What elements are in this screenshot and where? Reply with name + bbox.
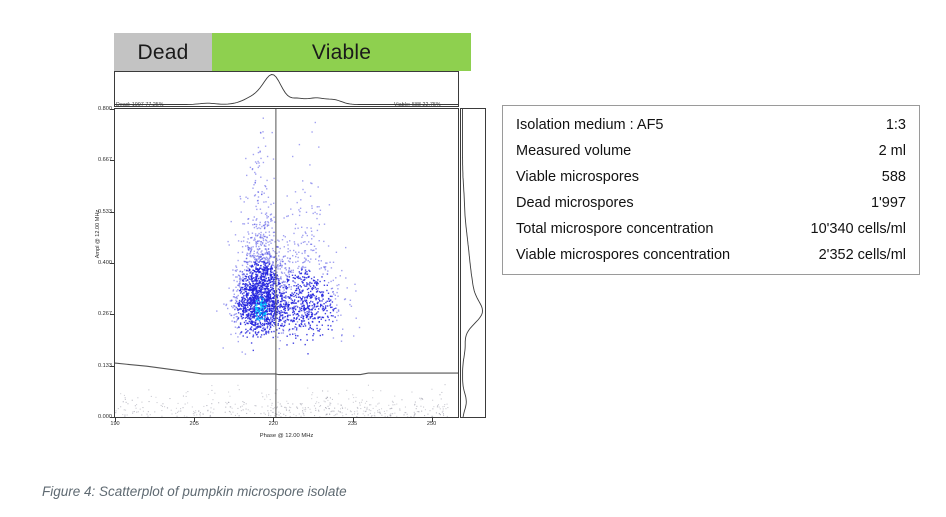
- y-tick-mark: [110, 212, 114, 213]
- result-label: Measured volume: [516, 143, 631, 159]
- y-tick-mark: [110, 263, 114, 264]
- result-label: Viable microspores: [516, 169, 639, 185]
- y-tick-mark: [110, 366, 114, 367]
- noise-point-band: [115, 384, 448, 417]
- result-label: Dead microspores: [516, 195, 634, 211]
- result-value: 10'340 cells/ml: [811, 221, 906, 237]
- scatter-plot-svg: [115, 109, 458, 417]
- classification-bar-group: Dead Viable: [114, 33, 471, 71]
- result-value: 2'352 cells/ml: [819, 247, 906, 263]
- table-row: Dead microspores 1'997: [503, 190, 919, 216]
- y-tick-mark: [110, 417, 114, 418]
- y-tick-mark: [110, 160, 114, 161]
- y-tick-label: 0.267: [88, 311, 112, 317]
- right-histogram-trace: [461, 109, 485, 417]
- scatter-plot-area[interactable]: [114, 108, 459, 418]
- table-row: Total microspore concentration 10'340 ce…: [503, 216, 919, 242]
- threshold-gate-line[interactable]: [115, 363, 458, 375]
- measurement-results-table: Isolation medium : AF5 1:3 Measured volu…: [502, 105, 920, 275]
- classification-bar-dead[interactable]: Dead: [114, 33, 212, 71]
- cytometry-scatterplot-figure: Dead: 1997 77.25% Viable: 588 22.75% 0.0…: [88, 71, 488, 466]
- table-row: Viable microspores concentration 2'352 c…: [503, 242, 919, 268]
- result-value: 588: [882, 169, 906, 185]
- classification-bar-dead-label: Dead: [137, 42, 188, 63]
- result-label: Total microspore concentration: [516, 221, 713, 237]
- result-value: 1'997: [871, 195, 906, 211]
- y-tick-label: 0.800: [88, 106, 112, 112]
- figure-caption: Figure 4: Scatterplot of pumpkin microsp…: [42, 484, 347, 499]
- y-axis-title: Ampl @ 12.00 MHz: [95, 194, 101, 274]
- table-row: Isolation medium : AF5 1:3: [503, 112, 919, 138]
- y-tick-label: 0.133: [88, 363, 112, 369]
- classification-bar-viable-label: Viable: [312, 42, 371, 63]
- y-tick-mark: [110, 109, 114, 110]
- table-row: Measured volume 2 ml: [503, 138, 919, 164]
- top-histogram-trace: [115, 72, 458, 106]
- gate-readout-viable: Viable: 588 22.75%: [394, 102, 441, 108]
- scatter-point-cloud: [216, 118, 360, 355]
- y-tick-mark: [110, 314, 114, 315]
- x-tick-mark: [273, 418, 274, 422]
- result-value: 1:3: [886, 117, 906, 133]
- result-label: Viable microspores concentration: [516, 247, 730, 263]
- table-row: Viable microspores 588: [503, 164, 919, 190]
- result-label: Isolation medium : AF5: [516, 117, 664, 133]
- x-tick-mark: [353, 418, 354, 422]
- x-tick-mark: [194, 418, 195, 422]
- right-marginal-histogram: [460, 108, 486, 418]
- x-axis-title: Phase @ 12.00 MHz: [114, 433, 459, 439]
- result-value: 2 ml: [879, 143, 906, 159]
- x-tick-mark: [115, 418, 116, 422]
- gate-readout-dead: Dead: 1997 77.25%: [116, 102, 164, 108]
- x-tick-mark: [432, 418, 433, 422]
- y-tick-label: 0.667: [88, 157, 112, 163]
- y-tick-label: 0.000: [88, 414, 112, 420]
- classification-bar-viable[interactable]: Viable: [212, 33, 471, 71]
